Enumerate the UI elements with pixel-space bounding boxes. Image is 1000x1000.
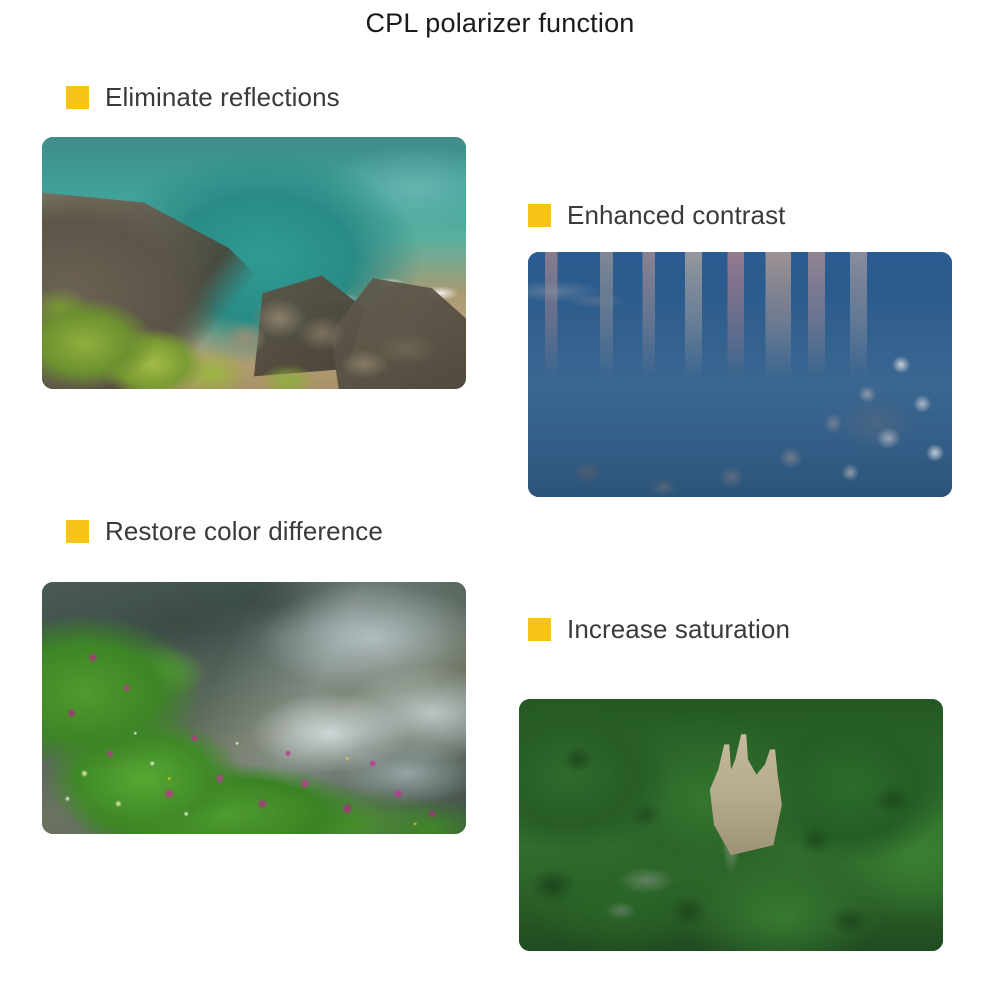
city-skyline-blue-hour-photo xyxy=(528,252,952,497)
feature-label-increase-saturation: Increase saturation xyxy=(528,614,790,645)
feature-label-restore-color-difference: Restore color difference xyxy=(66,516,383,547)
castle-forest-twilight-photo xyxy=(519,699,943,951)
feature-label-text: Enhanced contrast xyxy=(567,200,786,231)
yellow-square-bullet-icon xyxy=(66,520,89,543)
feature-label-text: Increase saturation xyxy=(567,614,790,645)
feature-label-enhanced-contrast: Enhanced contrast xyxy=(528,200,786,231)
coastal-cliffs-tidal-pool-photo xyxy=(42,137,466,389)
city-pebble-bank-layer xyxy=(528,252,952,497)
feature-label-text: Restore color difference xyxy=(105,516,383,547)
yellow-square-bullet-icon xyxy=(528,204,551,227)
yellow-square-bullet-icon xyxy=(66,86,89,109)
coast-greenery-layer xyxy=(42,137,466,389)
flower-yellow-centers-layer xyxy=(42,582,466,834)
feature-label-eliminate-reflections: Eliminate reflections xyxy=(66,82,340,113)
magenta-flowers-stream-photo xyxy=(42,582,466,834)
feature-label-text: Eliminate reflections xyxy=(105,82,340,113)
yellow-square-bullet-icon xyxy=(528,618,551,641)
page-title: CPL polarizer function xyxy=(0,8,1000,39)
